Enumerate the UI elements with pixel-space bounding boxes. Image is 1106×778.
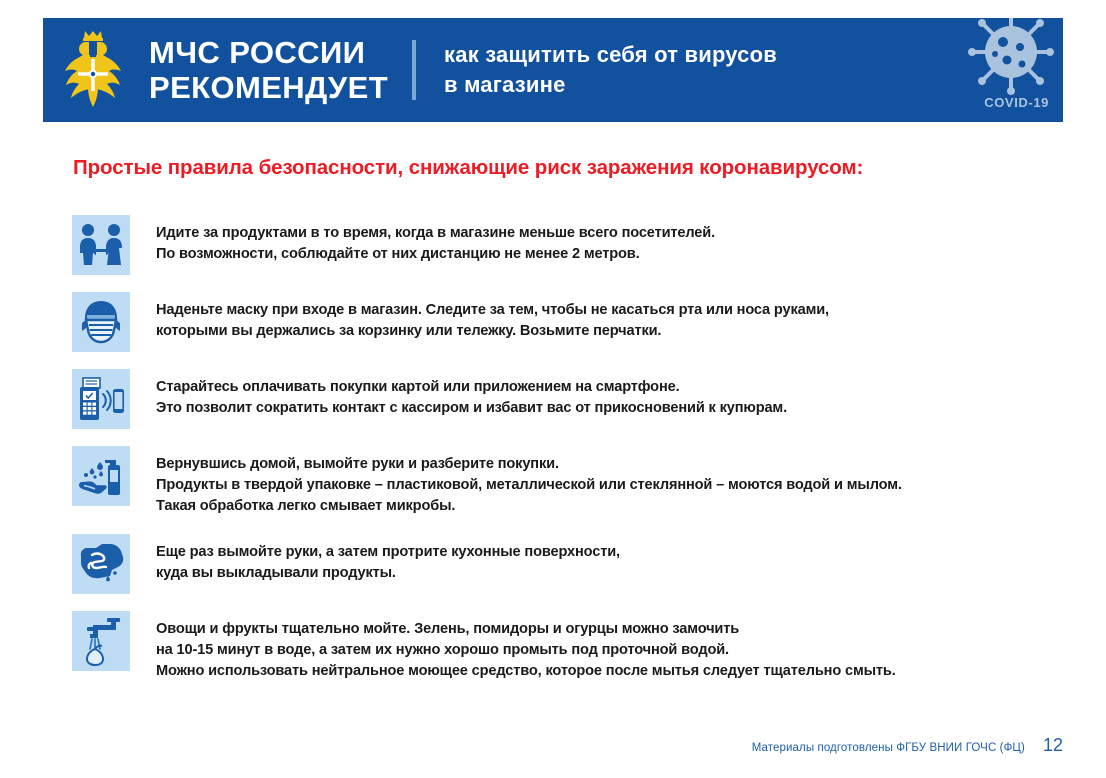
- face-mask-person-icon: [72, 292, 130, 352]
- list-item: Старайтесь оплачивать покупки картой или…: [72, 369, 1072, 429]
- rule-line: на 10-15 минут в воде, а затем их нужно …: [156, 640, 896, 661]
- brand-line-2: РЕКОМЕНДУЕТ: [149, 70, 388, 105]
- rule-text: Вернувшись домой, вымойте руки и разбери…: [130, 446, 902, 517]
- rule-line: Вернувшись домой, вымойте руки и разбери…: [156, 454, 902, 475]
- rules-list: Идите за продуктами в то время, когда в …: [72, 215, 1072, 699]
- faucet-washing-vegetables-icon: [72, 611, 130, 671]
- header-banner: МЧС РОССИИ РЕКОМЕНДУЕТ как защитить себя…: [43, 18, 1063, 122]
- rule-line: Продукты в твердой упаковке – пластиково…: [156, 475, 902, 496]
- list-item: Овощи и фрукты тщательно мойте. Зелень, …: [72, 611, 1072, 682]
- footer: Материалы подготовлены ФГБУ ВНИИ ГОЧС (Ф…: [752, 735, 1063, 756]
- rule-line: Идите за продуктами в то время, когда в …: [156, 223, 715, 244]
- mchs-double-headed-eagle-emblem: [43, 18, 143, 122]
- rule-line: куда вы выкладывали продукты.: [156, 563, 620, 584]
- list-item: Еще раз вымойте руки, а затем протрите к…: [72, 534, 1072, 594]
- list-item: Идите за продуктами в то время, когда в …: [72, 215, 1072, 275]
- rule-text: Еще раз вымойте руки, а затем протрите к…: [130, 534, 620, 584]
- rule-line: Овощи и фрукты тщательно мойте. Зелень, …: [156, 619, 896, 640]
- footer-credit: Материалы подготовлены ФГБУ ВНИИ ГОЧС (Ф…: [752, 742, 1025, 754]
- subtitle-line-2: в магазине: [444, 70, 943, 100]
- rule-text: Овощи и фрукты тщательно мойте. Зелень, …: [130, 611, 896, 682]
- list-item: Наденьте маску при входе в магазин. След…: [72, 292, 1072, 352]
- washing-hands-icon: [72, 534, 130, 594]
- social-distance-two-people-icon: [72, 215, 130, 275]
- virus-graphic-area: COVID-19: [943, 18, 1063, 122]
- list-item: Вернувшись домой, вымойте руки и разбери…: [72, 446, 1072, 517]
- rule-text: Идите за продуктами в то время, когда в …: [130, 215, 715, 265]
- covid-19-label: COVID-19: [984, 95, 1049, 110]
- rule-line: По возможности, соблюдайте от них дистан…: [156, 244, 715, 265]
- rule-line: Это позволит сократить контакт с кассиро…: [156, 398, 787, 419]
- contactless-payment-terminal-icon: [72, 369, 130, 429]
- hand-wash-soap-dispenser-icon: [72, 446, 130, 506]
- rule-line: Наденьте маску при входе в магазин. След…: [156, 300, 829, 321]
- rule-line: Такая обработка легко смывает микробы.: [156, 496, 902, 517]
- header-subtitle: как защитить себя от вирусов в магазине: [416, 18, 943, 122]
- rule-line: Еще раз вымойте руки, а затем протрите к…: [156, 542, 620, 563]
- rule-text: Наденьте маску при входе в магазин. След…: [130, 292, 829, 342]
- rule-text: Старайтесь оплачивать покупки картой или…: [130, 369, 787, 419]
- rule-line: которыми вы держались за корзинку или те…: [156, 321, 829, 342]
- brand-line-1: МЧС РОССИИ: [149, 35, 388, 70]
- rule-line: Можно использовать нейтральное моющее ср…: [156, 661, 896, 682]
- subtitle-line-1: как защитить себя от вирусов: [444, 40, 943, 70]
- page-number: 12: [1043, 735, 1063, 756]
- page-headline: Простые правила безопасности, снижающие …: [73, 156, 863, 180]
- brand-title: МЧС РОССИИ РЕКОМЕНДУЕТ: [143, 18, 388, 122]
- rule-line: Старайтесь оплачивать покупки картой или…: [156, 377, 787, 398]
